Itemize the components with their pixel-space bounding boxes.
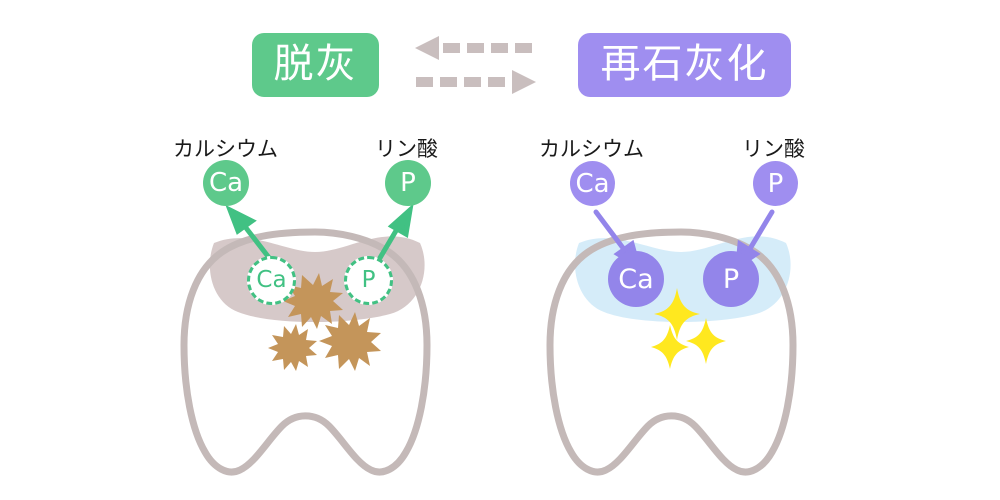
left-phosphate-bubble: P (385, 160, 431, 206)
sparkle-icon (686, 318, 726, 364)
exchange-arrows (415, 34, 560, 96)
sparkle-icon (651, 325, 689, 369)
sparkle-icon (654, 288, 700, 340)
right-phosphate-bubble: P (753, 161, 798, 206)
dashed-arrow-right (416, 70, 536, 94)
right-calcium-label: カルシウム (539, 139, 644, 160)
left-inner-phosphate-marker: P (344, 256, 393, 305)
right-phosphate-label: リン酸 (742, 139, 805, 160)
remineralization-badge: 再石灰化 (578, 33, 791, 97)
right-inner-calcium-marker: Ca (608, 251, 664, 307)
left-calcium-label: カルシウム (173, 139, 278, 160)
demineralization-badge: 脱灰 (252, 33, 379, 97)
left-phosphate-label: リン酸 (375, 139, 438, 160)
right-inner-phosphate-marker: P (703, 251, 759, 307)
bacteria-icon (319, 312, 381, 371)
tooth-outline (184, 232, 427, 472)
diagram-canvas: 脱灰 再石灰化 (0, 0, 1000, 500)
left-calcium-bubble: Ca (203, 160, 249, 206)
left-inner-calcium-marker: Ca (247, 256, 296, 305)
dashed-arrow-left (415, 36, 532, 60)
bacteria-icon (268, 324, 317, 371)
right-calcium-bubble: Ca (570, 161, 615, 206)
